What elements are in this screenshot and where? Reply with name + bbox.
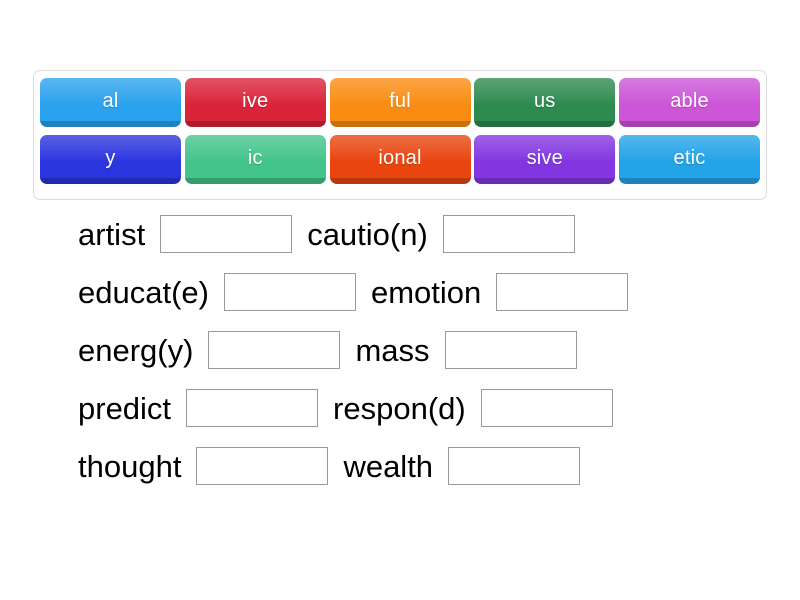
suffix-tile-label: ful — [389, 90, 411, 113]
suffix-tile-ful[interactable]: ful — [330, 78, 471, 127]
word-pair: thought — [78, 447, 343, 485]
suffix-tile-label: etic — [674, 147, 706, 170]
word-row: thoughtwealth — [0, 437, 800, 495]
word-stem-label: predict — [78, 393, 171, 424]
word-stem-label: energ(y) — [78, 335, 193, 366]
word-stem-label: wealth — [343, 451, 433, 482]
answer-drop-blank[interactable] — [160, 215, 292, 253]
suffix-tile-ional[interactable]: ional — [330, 135, 471, 184]
answer-drop-blank[interactable] — [443, 215, 575, 253]
word-row: energ(y)mass — [0, 321, 800, 379]
suffix-tile-al[interactable]: al — [40, 78, 181, 127]
word-pair: educat(e) — [78, 273, 371, 311]
suffix-tile-sive[interactable]: sive — [474, 135, 615, 184]
word-stem-label: mass — [355, 335, 429, 366]
suffix-tile-label: able — [670, 90, 709, 113]
word-blank-list: artistcautio(n)educat(e)emotionenerg(y)m… — [0, 205, 800, 495]
word-pair: energ(y) — [78, 331, 355, 369]
word-stem-label: emotion — [371, 277, 481, 308]
suffix-tile-ic[interactable]: ic — [185, 135, 326, 184]
word-stem-label: educat(e) — [78, 277, 209, 308]
word-row: predictrespon(d) — [0, 379, 800, 437]
answer-drop-blank[interactable] — [445, 331, 577, 369]
suffix-tile-label: y — [105, 147, 115, 170]
suffix-tile-etic[interactable]: etic — [619, 135, 760, 184]
suffix-tile-able[interactable]: able — [619, 78, 760, 127]
answer-drop-blank[interactable] — [448, 447, 580, 485]
answer-drop-blank[interactable] — [208, 331, 340, 369]
suffix-tile-label: al — [103, 90, 119, 113]
answer-drop-blank[interactable] — [196, 447, 328, 485]
word-pair: predict — [78, 389, 333, 427]
answer-drop-blank[interactable] — [186, 389, 318, 427]
suffix-tile-us[interactable]: us — [474, 78, 615, 127]
suffix-tile-label: ive — [242, 90, 268, 113]
answer-drop-blank[interactable] — [224, 273, 356, 311]
word-stem-label: cautio(n) — [307, 219, 428, 250]
suffix-tile-bank: alivefulusableyicionalsiveetic — [33, 70, 767, 200]
word-stem-label: artist — [78, 219, 145, 250]
word-row: educat(e)emotion — [0, 263, 800, 321]
suffix-tile-label: ic — [248, 147, 263, 170]
word-row: artistcautio(n) — [0, 205, 800, 263]
answer-drop-blank[interactable] — [481, 389, 613, 427]
tile-row: alivefulusable — [40, 78, 760, 129]
suffix-tile-label: sive — [527, 147, 563, 170]
tile-row: yicionalsiveetic — [40, 135, 760, 186]
word-pair: cautio(n) — [307, 215, 590, 253]
word-pair: emotion — [371, 273, 643, 311]
answer-drop-blank[interactable] — [496, 273, 628, 311]
word-stem-label: respon(d) — [333, 393, 466, 424]
word-pair: artist — [78, 215, 307, 253]
suffix-tile-label: ional — [378, 147, 421, 170]
suffix-tile-y[interactable]: y — [40, 135, 181, 184]
word-pair: respon(d) — [333, 389, 628, 427]
word-pair: wealth — [343, 447, 595, 485]
word-pair: mass — [355, 331, 591, 369]
word-stem-label: thought — [78, 451, 181, 482]
suffix-tile-label: us — [534, 90, 556, 113]
suffix-tile-ive[interactable]: ive — [185, 78, 326, 127]
